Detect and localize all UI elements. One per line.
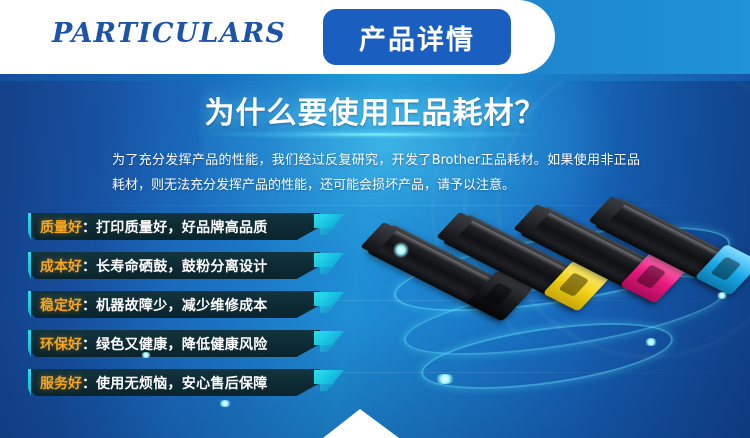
product-detail-badge-label: 产品详情 — [359, 18, 475, 57]
feature-arrow-tail-icon — [320, 344, 336, 352]
feature-item[interactable]: 稳定好 ： 机器故障少，减少维修成本 — [28, 291, 348, 318]
brand-wordmark: PARTICULARS — [52, 18, 286, 49]
headline-container: 为什么要使用正品耗材？ — [0, 88, 750, 132]
feature-item[interactable]: 质量好 ： 打印质量好，好品牌高品质 — [28, 213, 348, 240]
feature-arrow-icon — [314, 292, 344, 306]
sparkle-decoration — [218, 400, 232, 407]
feature-separator: ： — [82, 295, 96, 315]
product-detail-banner: PARTICULARS 产品详情 为什么要使用正品耗材？ 为了充分发挥产品的性能… — [0, 0, 750, 438]
feature-separator: ： — [82, 373, 96, 393]
feature-value: 绿色又健康，降低健康风险 — [96, 334, 268, 354]
feature-item[interactable]: 服务好 ： 使用无烦恼，安心售后保障 — [28, 369, 348, 396]
feature-arrow-tail-icon — [320, 383, 336, 391]
feature-separator: ： — [82, 217, 96, 237]
feature-key: 稳定好 — [40, 295, 82, 315]
feature-arrow-icon — [314, 331, 344, 345]
feature-key: 质量好 — [40, 217, 82, 237]
feature-separator: ： — [82, 256, 96, 276]
feature-value: 使用无烦恼，安心售后保障 — [96, 373, 268, 393]
sparkle-decoration — [716, 292, 728, 299]
product-image — [398, 206, 750, 408]
feature-arrow-icon — [314, 370, 344, 384]
sparkle-decoration — [434, 374, 456, 384]
header-accent-strip — [0, 74, 750, 81]
feature-arrow-icon — [314, 253, 344, 267]
feature-key: 服务好 — [40, 373, 82, 393]
feature-arrow-tail-icon — [320, 227, 336, 235]
bottom-arrow-decoration — [323, 409, 399, 438]
feature-item[interactable]: 成本好 ： 长寿命硒鼓，鼓粉分离设计 — [28, 252, 348, 279]
feature-key: 成本好 — [40, 256, 82, 276]
sparkle-decoration — [393, 242, 409, 258]
feature-value: 长寿命硒鼓，鼓粉分离设计 — [96, 256, 268, 276]
feature-arrow-tail-icon — [320, 266, 336, 274]
header-bar: PARTICULARS 产品详情 — [0, 0, 750, 74]
feature-separator: ： — [82, 334, 96, 354]
feature-arrow-tail-icon — [320, 305, 336, 313]
feature-value: 机器故障少，减少维修成本 — [96, 295, 268, 315]
sparkle-decoration — [644, 338, 658, 346]
feature-value: 打印质量好，好品牌高品质 — [96, 217, 268, 237]
feature-item[interactable]: 环保好 ： 绿色又健康，降低健康风险 — [28, 330, 348, 357]
intro-paragraph: 为了充分发挥产品的性能，我们经过反复研究，开发了Brother正品耗材。如果使用… — [112, 148, 640, 198]
feature-arrow-icon — [314, 214, 344, 228]
feature-list: 质量好 ： 打印质量好，好品牌高品质 成本好 ： 长寿命硒鼓，鼓粉分离设计 稳定… — [28, 213, 348, 408]
page-title: 为什么要使用正品耗材？ — [205, 88, 546, 132]
feature-key: 环保好 — [40, 334, 82, 354]
headline-glow-decoration — [210, 130, 540, 139]
product-detail-badge[interactable]: 产品详情 — [323, 9, 511, 65]
